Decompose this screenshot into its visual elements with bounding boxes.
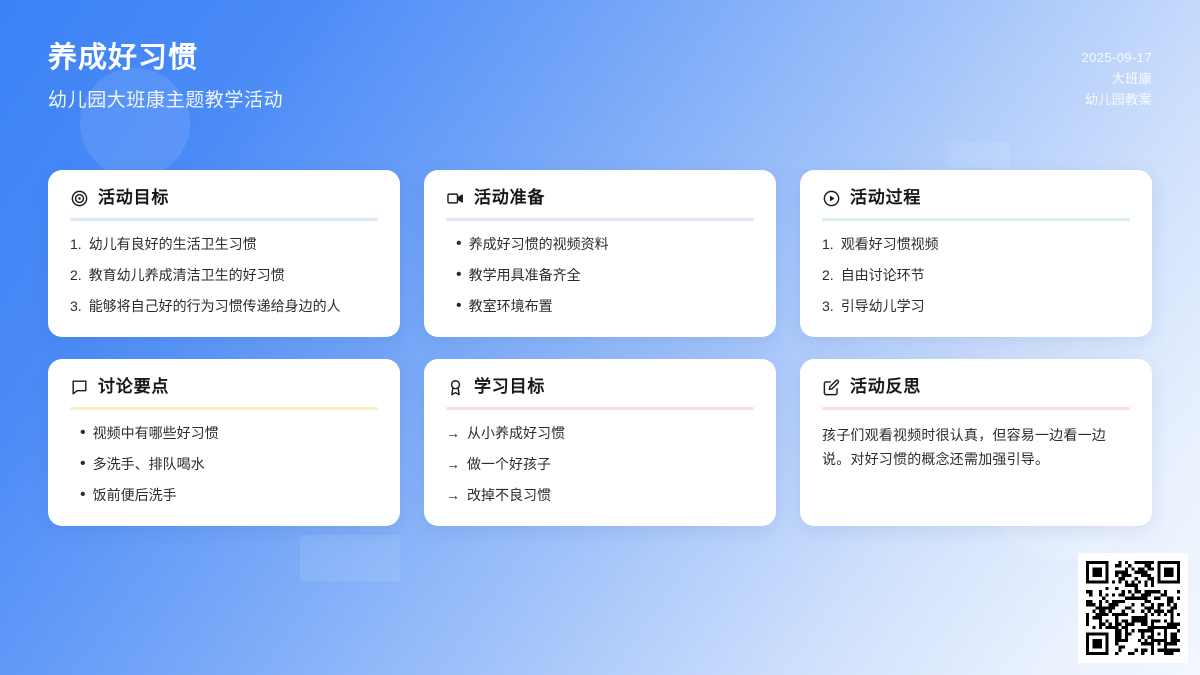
list-item: •教室环境布置: [456, 296, 754, 318]
list-item: •教学用具准备齐全: [456, 265, 754, 287]
page-subtitle: 幼儿园大班康主题教学活动: [48, 85, 283, 112]
list-number: 2.: [70, 265, 82, 287]
bullet-icon: •: [456, 236, 462, 252]
list-item-label: 改掉不良习惯: [467, 485, 551, 507]
card-divider: [822, 218, 1130, 221]
list-item-label: 多洗手、排队喝水: [93, 454, 205, 476]
card-header: 活动准备: [446, 188, 754, 208]
list-item-label: 从小养成好习惯: [467, 423, 565, 445]
bullet-icon: •: [80, 425, 86, 441]
card-header: 学习目标: [446, 377, 754, 397]
list-item-label: 养成好习惯的视频资料: [469, 234, 609, 256]
list-number: 3.: [70, 296, 82, 318]
list-item-label: 观看好习惯视频: [841, 234, 939, 256]
list-item-label: 能够将自己好的行为习惯传递给身边的人: [89, 296, 341, 318]
list-item: →改掉不良习惯: [446, 485, 754, 507]
card-header: 活动目标: [70, 188, 378, 208]
card-header: 讨论要点: [70, 377, 378, 397]
play-circle-icon: [822, 189, 841, 208]
list-item-label: 教室环境布置: [469, 296, 553, 318]
arrow-icon: →: [446, 454, 460, 476]
list-item: •多洗手、排队喝水: [80, 454, 378, 476]
card-paragraph: 孩子们观看视频时很认真，但容易一边看一边说。对好习惯的概念还需加强引导。: [822, 423, 1130, 471]
list-item-label: 自由讨论环节: [841, 265, 925, 287]
card-list: 1.观看好习惯视频2.自由讨论环节3.引导幼儿学习: [822, 234, 1130, 317]
list-number: 2.: [822, 265, 834, 287]
list-item: 2.自由讨论环节: [822, 265, 1130, 287]
card-divider: [446, 407, 754, 410]
list-item-label: 做一个好孩子: [467, 454, 551, 476]
list-item: 2.教育幼儿养成清洁卫生的好习惯: [70, 265, 378, 287]
meta-category: 幼儿园教案: [1082, 89, 1153, 110]
card-title: 讨论要点: [98, 377, 169, 397]
decorative-rectangle: [300, 535, 400, 581]
list-item: 3.能够将自己好的行为习惯传递给身边的人: [70, 296, 378, 318]
list-item-label: 饭前便后洗手: [93, 485, 177, 507]
card-list: →从小养成好习惯→做一个好孩子→改掉不良习惯: [446, 423, 754, 506]
award-icon: [446, 378, 465, 397]
bullet-icon: •: [80, 456, 86, 472]
list-item: 3.引导幼儿学习: [822, 296, 1130, 318]
card-activity-preparation: 活动准备•养成好习惯的视频资料•教学用具准备齐全•教室环境布置: [424, 170, 776, 337]
card-title: 学习目标: [474, 377, 545, 397]
slide-canvas: 养成好习惯 幼儿园大班康主题教学活动 2025-09-17 大班康 幼儿园教案 …: [0, 0, 1200, 675]
header-meta: 2025-09-17 大班康 幼儿园教案: [1082, 40, 1153, 110]
card-activity-goals: 活动目标1.幼儿有良好的生活卫生习惯2.教育幼儿养成清洁卫生的好习惯3.能够将自…: [48, 170, 400, 337]
bullet-icon: •: [80, 487, 86, 503]
decorative-rectangle: [948, 142, 1010, 168]
list-number: 3.: [822, 296, 834, 318]
card-title: 活动目标: [98, 188, 169, 208]
card-divider: [70, 218, 378, 221]
card-header: 活动过程: [822, 188, 1130, 208]
arrow-icon: →: [446, 423, 460, 445]
card-divider: [70, 407, 378, 410]
card-divider: [446, 218, 754, 221]
card-title: 活动准备: [474, 188, 545, 208]
list-item-label: 幼儿有良好的生活卫生习惯: [89, 234, 257, 256]
edit-square-icon: [822, 378, 841, 397]
header-titles: 养成好习惯 幼儿园大班康主题教学活动: [48, 40, 283, 112]
meta-date: 2025-09-17: [1082, 47, 1153, 68]
list-item: 1.幼儿有良好的生活卫生习惯: [70, 234, 378, 256]
list-item: •养成好习惯的视频资料: [456, 234, 754, 256]
card-title: 活动过程: [850, 188, 921, 208]
video-camera-icon: [446, 189, 465, 208]
card-list: 1.幼儿有良好的生活卫生习惯2.教育幼儿养成清洁卫生的好习惯3.能够将自己好的行…: [70, 234, 378, 317]
list-item-label: 教学用具准备齐全: [469, 265, 581, 287]
card-activity-process: 活动过程1.观看好习惯视频2.自由讨论环节3.引导幼儿学习: [800, 170, 1152, 337]
card-list: •养成好习惯的视频资料•教学用具准备齐全•教室环境布置: [446, 234, 754, 317]
card-activity-reflection: 活动反思孩子们观看视频时很认真，但容易一边看一边说。对好习惯的概念还需加强引导。: [800, 359, 1152, 526]
list-item: 1.观看好习惯视频: [822, 234, 1130, 256]
bullet-icon: •: [456, 298, 462, 314]
page-title: 养成好习惯: [48, 40, 283, 76]
meta-class: 大班康: [1082, 68, 1153, 89]
speech-bubble-icon: [70, 378, 89, 397]
list-number: 1.: [822, 234, 834, 256]
qr-code[interactable]: [1078, 553, 1188, 663]
list-item-label: 引导幼儿学习: [841, 296, 925, 318]
arrow-icon: →: [446, 485, 460, 507]
card-title: 活动反思: [850, 377, 921, 397]
list-item-label: 教育幼儿养成清洁卫生的好习惯: [89, 265, 285, 287]
card-header: 活动反思: [822, 377, 1130, 397]
list-number: 1.: [70, 234, 82, 256]
list-item: •饭前便后洗手: [80, 485, 378, 507]
list-item: •视频中有哪些好习惯: [80, 423, 378, 445]
target-icon: [70, 189, 89, 208]
card-grid: 活动目标1.幼儿有良好的生活卫生习惯2.教育幼儿养成清洁卫生的好习惯3.能够将自…: [48, 170, 1152, 526]
card-divider: [822, 407, 1130, 410]
qr-code-image: [1086, 561, 1180, 655]
list-item-label: 视频中有哪些好习惯: [93, 423, 219, 445]
list-item: →做一个好孩子: [446, 454, 754, 476]
bullet-icon: •: [456, 267, 462, 283]
card-learning-goals: 学习目标→从小养成好习惯→做一个好孩子→改掉不良习惯: [424, 359, 776, 526]
card-discussion-points: 讨论要点•视频中有哪些好习惯•多洗手、排队喝水•饭前便后洗手: [48, 359, 400, 526]
slide-header: 养成好习惯 幼儿园大班康主题教学活动 2025-09-17 大班康 幼儿园教案: [48, 40, 1152, 136]
list-item: →从小养成好习惯: [446, 423, 754, 445]
card-list: •视频中有哪些好习惯•多洗手、排队喝水•饭前便后洗手: [70, 423, 378, 506]
